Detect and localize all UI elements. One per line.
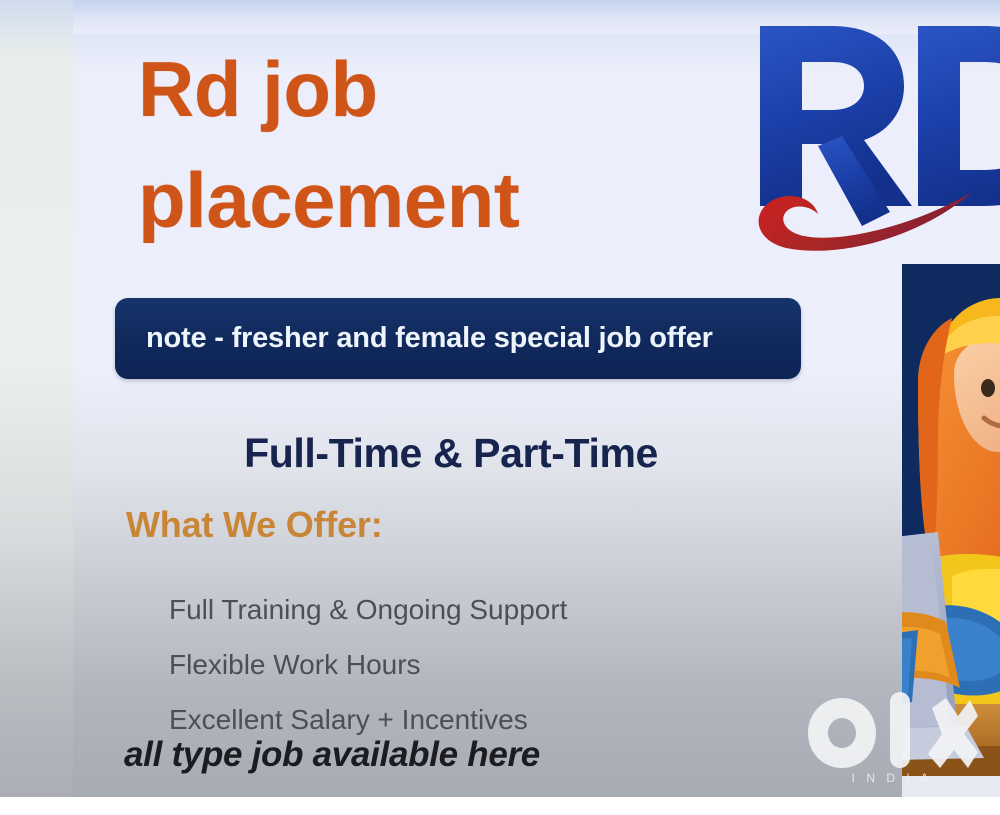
note-banner: note - fresher and female special job of… [115, 298, 801, 379]
bottom-white-strip [0, 797, 1000, 815]
employment-type-subheading: Full-Time & Part-Time [73, 430, 829, 477]
rd-logo [722, 8, 1000, 266]
olx-watermark: I N D I A [806, 690, 978, 785]
poster-image: Rd job placement [0, 0, 1000, 815]
page-title: Rd job placement [138, 34, 738, 256]
offer-section-title: What We Offer: [126, 504, 383, 546]
left-letterbox-band [0, 0, 73, 797]
olx-region-label: I N D I A [852, 771, 933, 785]
list-item: Full Training & Ongoing Support [169, 582, 567, 637]
tagline-text: all type job available here [124, 735, 540, 775]
note-banner-text: note - fresher and female special job of… [115, 322, 713, 355]
offer-list: Full Training & Ongoing Support Flexible… [169, 582, 567, 747]
list-item: Flexible Work Hours [169, 637, 567, 692]
